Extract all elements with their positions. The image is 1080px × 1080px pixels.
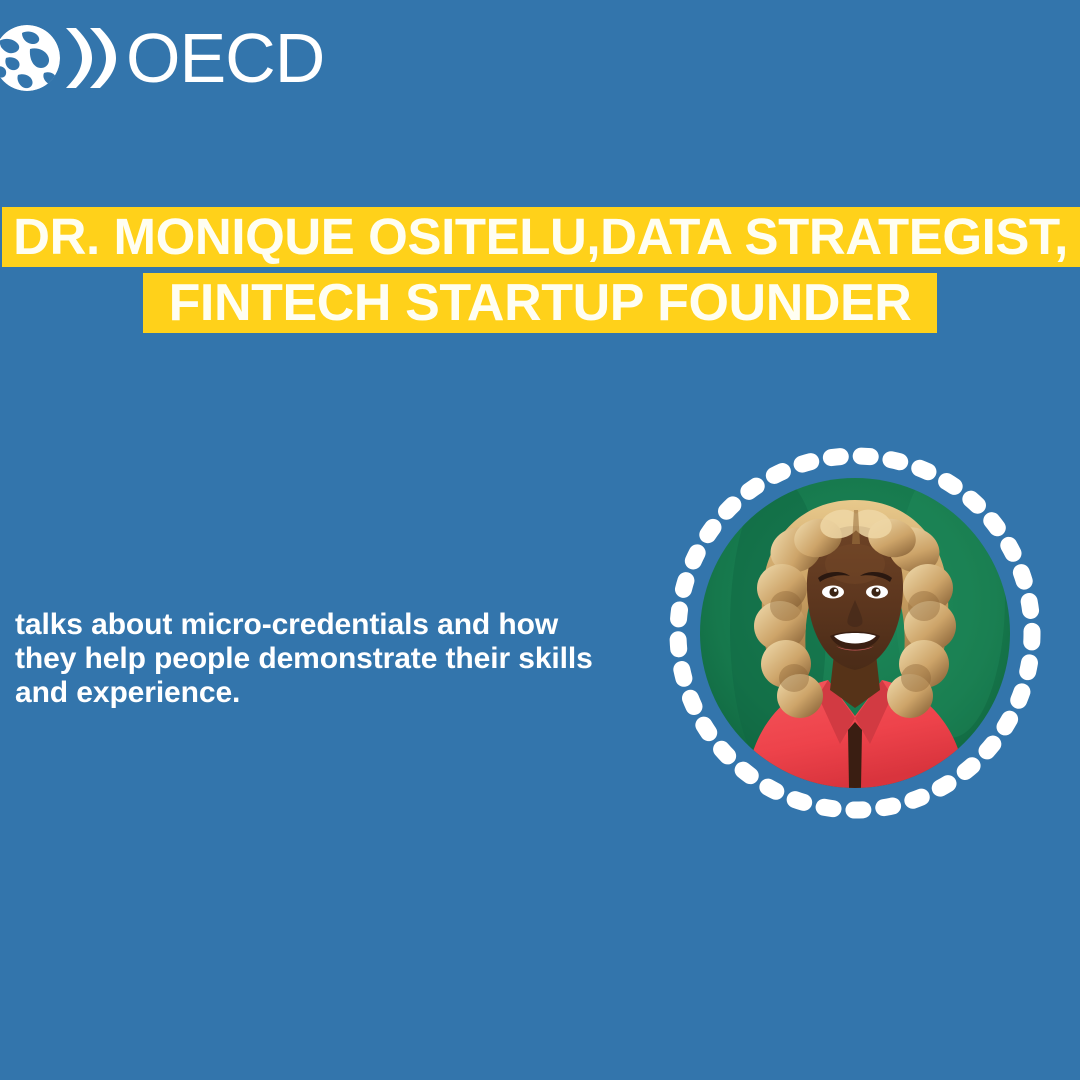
headline-line-1-wrapper: DR. MONIQUE OSITELU,DATA STRATEGIST, — [0, 207, 1080, 267]
portrait — [662, 440, 1048, 826]
globe-icon — [0, 25, 60, 91]
oecd-logo: OECD — [0, 26, 324, 90]
social-card: OECD DR. MONIQUE OSITELU,DATA STRATEGIST… — [0, 0, 1080, 1080]
chevrons-icon — [62, 27, 120, 89]
portrait-photo — [700, 478, 1010, 788]
headline-line-2: FINTECH STARTUP FOUNDER — [143, 273, 938, 333]
body-text: talks about micro-credentials and how th… — [15, 608, 615, 710]
headline: DR. MONIQUE OSITELU,DATA STRATEGIST, FIN… — [0, 207, 1080, 333]
headline-line-1: DR. MONIQUE OSITELU,DATA STRATEGIST, — [2, 207, 1080, 267]
oecd-wordmark: OECD — [126, 23, 324, 93]
headline-line-2-wrapper: FINTECH STARTUP FOUNDER — [0, 267, 1080, 333]
